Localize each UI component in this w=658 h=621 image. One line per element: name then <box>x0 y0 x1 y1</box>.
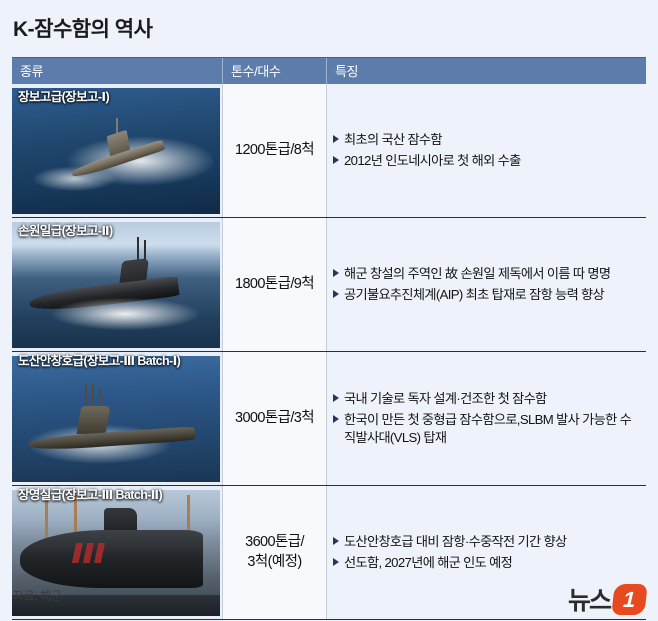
feature-item: 도산안창호급 대비 잠항·수중작전 기간 향상 <box>333 533 638 551</box>
tonnage-cell: 3000톤급/3척 <box>222 352 326 485</box>
page-title: K-잠수함의 역사 <box>13 13 152 43</box>
submarine-name-label: 손원일급(장보고-Ⅱ) <box>18 220 113 239</box>
triangle-bullet-icon <box>333 135 339 143</box>
triangle-bullet-icon <box>333 269 339 277</box>
table-row: 장보고급(장보고-Ⅰ) 1200톤급/8척 최초의 국산 잠수함 2012년 인… <box>12 84 646 218</box>
feature-text: 공기불요추진체계(AIP) 최초 탑재로 잠항 능력 향상 <box>344 287 604 302</box>
feature-item: 국내 기술로 독자 설계·건조한 첫 잠수함 <box>333 390 638 408</box>
submarine-name-label: 장영실급(장보고-Ⅲ Batch-Ⅱ) <box>18 486 162 503</box>
tonnage-value: 3600톤급/ 3척(예정) <box>245 533 304 572</box>
infographic-page: K-잠수함의 역사 종류 톤수/대수 특징 장보고급(장보고-Ⅰ) 1200톤급 <box>0 0 658 621</box>
feature-text: 도산안창호급 대비 잠항·수중작전 기간 향상 <box>344 534 566 549</box>
column-header-tonnage: 톤수/대수 <box>222 58 326 84</box>
triangle-bullet-icon <box>333 156 339 164</box>
feature-text: 국내 기술로 독자 설계·건조한 첫 잠수함 <box>344 391 547 406</box>
triangle-bullet-icon <box>333 415 339 423</box>
column-header-type: 종류 <box>12 58 222 84</box>
submarine-history-table: 종류 톤수/대수 특징 장보고급(장보고-Ⅰ) 1200톤급/8척 <box>12 57 646 620</box>
table-row: 손원일급(장보고-Ⅱ) 1800톤급/9척 해군 창설의 주역인 故 손원일 제… <box>12 218 646 352</box>
feature-item: 공기불요추진체계(AIP) 최초 탑재로 잠항 능력 향상 <box>333 286 638 304</box>
submarine-type-cell: 장보고급(장보고-Ⅰ) <box>12 84 222 217</box>
features-cell: 국내 기술로 독자 설계·건조한 첫 잠수함 한국이 만든 첫 중형급 잠수함으… <box>326 352 646 485</box>
table-row: 도산안창호급(장보고-Ⅲ Batch-Ⅰ) 3000톤급/3척 국내 기술로 독… <box>12 352 646 486</box>
news1-logo-number: 1 <box>623 586 636 612</box>
source-note: 자료: 해군 <box>13 587 61 604</box>
tonnage-cell: 1800톤급/9척 <box>222 218 326 351</box>
feature-text: 선도함, 2027년에 해군 인도 예정 <box>344 555 512 570</box>
triangle-bullet-icon <box>333 290 339 298</box>
feature-text: 최초의 국산 잠수함 <box>344 132 442 147</box>
feature-text: 해군 창설의 주역인 故 손원일 제독에서 이름 따 명명 <box>344 266 610 281</box>
table-header-row: 종류 톤수/대수 특징 <box>12 57 646 84</box>
tonnage-value: 1200톤급/8척 <box>235 141 314 161</box>
submarine-name-label: 도산안창호급(장보고-Ⅲ Batch-Ⅰ) <box>18 352 180 369</box>
feature-text: 2012년 인도네시아로 첫 해외 수출 <box>344 153 521 168</box>
feature-text: 한국이 만든 첫 중형급 잠수함으로,SLBM 발사 가능한 수직발사대(VLS… <box>344 412 631 445</box>
feature-item: 해군 창설의 주역인 故 손원일 제독에서 이름 따 명명 <box>333 265 638 283</box>
feature-item: 2012년 인도네시아로 첫 해외 수출 <box>333 152 638 170</box>
submarine-name-label: 장보고급(장보고-Ⅰ) <box>18 86 109 105</box>
news1-logo: 뉴스 1 <box>568 581 646 617</box>
features-cell: 해군 창설의 주역인 故 손원일 제독에서 이름 따 명명 공기불요추진체계(A… <box>326 218 646 351</box>
submarine-type-cell: 도산안창호급(장보고-Ⅲ Batch-Ⅰ) <box>12 352 222 485</box>
tonnage-cell: 1200톤급/8척 <box>222 84 326 217</box>
feature-item: 한국이 만든 첫 중형급 잠수함으로,SLBM 발사 가능한 수직발사대(VLS… <box>333 411 638 446</box>
triangle-bullet-icon <box>333 558 339 566</box>
feature-item: 선도함, 2027년에 해군 인도 예정 <box>333 554 638 572</box>
news1-logo-mark-icon: 1 <box>611 584 647 615</box>
submarine-sonwonil-photo <box>12 222 220 348</box>
triangle-bullet-icon <box>333 537 339 545</box>
submarine-dosanahnchangho-photo <box>12 356 220 482</box>
features-cell: 최초의 국산 잠수함 2012년 인도네시아로 첫 해외 수출 <box>326 84 646 217</box>
feature-item: 최초의 국산 잠수함 <box>333 131 638 149</box>
tonnage-value: 3000톤급/3척 <box>235 409 314 429</box>
footer: 자료: 해군 뉴스 1 <box>0 577 658 621</box>
column-header-features: 특징 <box>326 58 646 84</box>
triangle-bullet-icon <box>333 394 339 402</box>
tonnage-value: 1800톤급/9척 <box>235 275 314 295</box>
news1-logo-text: 뉴스 <box>568 581 610 617</box>
submarine-jangbogo-i-photo <box>12 88 220 214</box>
submarine-type-cell: 손원일급(장보고-Ⅱ) <box>12 218 222 351</box>
